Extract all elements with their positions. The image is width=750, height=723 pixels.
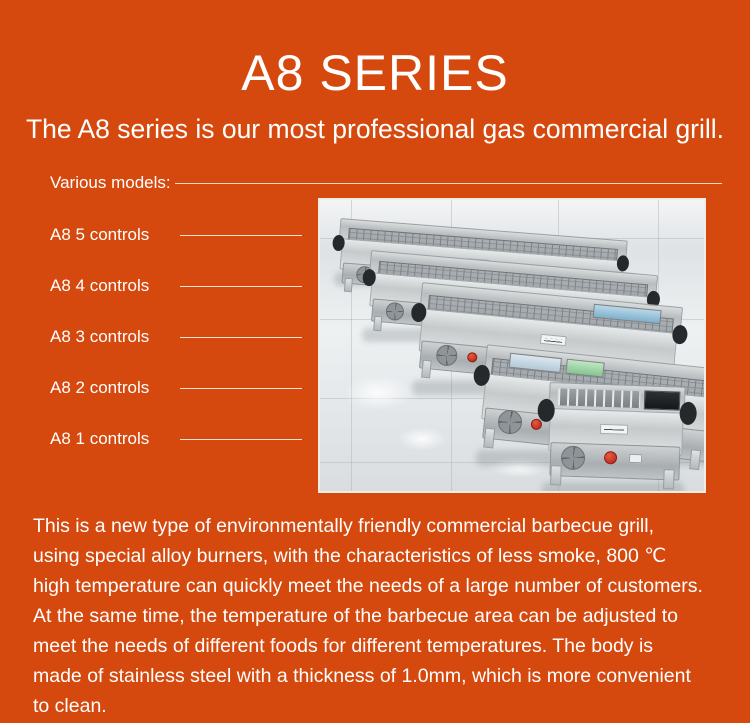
description-line: to clean. bbox=[33, 691, 723, 721]
description-line: This is a new type of environmentally fr… bbox=[33, 511, 723, 541]
description-line: meet the needs of different foods for di… bbox=[33, 631, 723, 661]
models-heading-label: Various models: bbox=[50, 172, 171, 194]
model-label: A8 1 controls bbox=[50, 428, 180, 450]
description-line: high temperature can quickly meet the ne… bbox=[33, 571, 723, 601]
model-leader-line bbox=[180, 388, 302, 389]
page-title: A8 SERIES bbox=[0, 45, 750, 101]
model-label: A8 2 controls bbox=[50, 377, 180, 399]
description-line: At the same time, the temperature of the… bbox=[33, 601, 723, 631]
models-heading-rule bbox=[175, 183, 722, 184]
model-row-a8-4: A8 4 controls bbox=[50, 275, 302, 297]
description-line: made of stainless steel with a thickness… bbox=[33, 661, 723, 691]
description-line: using special alloy burners, with the ch… bbox=[33, 541, 723, 571]
models-heading-row: Various models: bbox=[50, 172, 722, 194]
product-info-page: A8 SERIES The A8 series is our most prof… bbox=[0, 0, 750, 723]
model-leader-line bbox=[180, 439, 302, 440]
page-subtitle: The A8 series is our most professional g… bbox=[0, 112, 750, 146]
model-row-a8-1: A8 1 controls bbox=[50, 428, 302, 450]
model-leader-line bbox=[180, 235, 302, 236]
product-photo bbox=[318, 198, 706, 493]
model-label: A8 4 controls bbox=[50, 275, 180, 297]
model-label: A8 5 controls bbox=[50, 224, 180, 246]
model-row-a8-2: A8 2 controls bbox=[50, 377, 302, 399]
description-text: This is a new type of environmentally fr… bbox=[33, 511, 723, 721]
model-leader-line bbox=[180, 286, 302, 287]
model-label: A8 3 controls bbox=[50, 326, 180, 348]
model-row-a8-3: A8 3 controls bbox=[50, 326, 302, 348]
model-leader-line bbox=[180, 337, 302, 338]
model-row-a8-5: A8 5 controls bbox=[50, 224, 302, 246]
grill-a8-1 bbox=[546, 382, 685, 483]
product-photo-scene bbox=[320, 200, 704, 491]
